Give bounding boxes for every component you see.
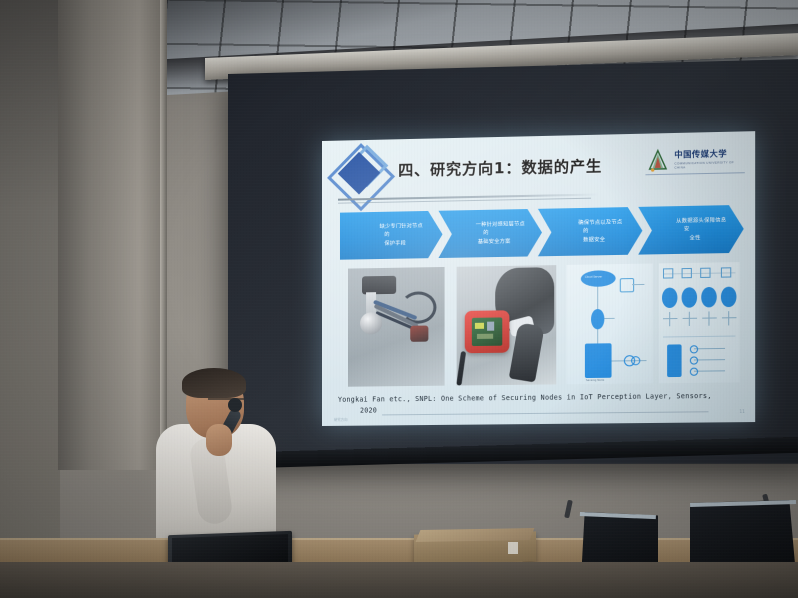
photo-red-case-board	[457, 265, 557, 385]
presentation-slide: 四、研究方向1：数据的产生 中国传媒大学 COMMUNICATION UNIVE…	[322, 131, 755, 426]
university-name: 中国传媒大学	[674, 150, 744, 160]
slide-media-strip: Cloud Server Sensing Node	[340, 262, 740, 387]
photo-wired-device	[348, 267, 445, 387]
university-mark-icon	[645, 148, 670, 173]
slide-footer-note: 研究方向	[334, 417, 348, 422]
slide-title: 四、研究方向1：数据的产生	[398, 155, 602, 181]
diagram-node-array	[659, 262, 740, 383]
box-label	[508, 542, 518, 554]
photo-scene: 四、研究方向1：数据的产生 中国传媒大学 COMMUNICATION UNIVE…	[0, 0, 798, 598]
chevron-step-3: 确保节点以及节点的数据安全	[538, 207, 642, 256]
presenter-hand	[206, 424, 232, 456]
cardboard-box-lid	[416, 528, 535, 542]
chevron-step-4: 从数据源头保障信息安全性	[638, 205, 743, 255]
chevron-process-row: 缺少专门针对节点的保护手段 一种针对感知层节点的基础安全方案 确保节点以及节点的…	[340, 205, 740, 260]
diamond-emblem-icon	[334, 149, 390, 202]
presenter-hair	[182, 368, 246, 398]
university-subtitle: COMMUNICATION UNIVERSITY OF CHINA	[674, 160, 744, 170]
desk-front-panel	[0, 562, 798, 598]
university-logo: 中国传媒大学 COMMUNICATION UNIVERSITY OF CHINA	[645, 144, 744, 177]
microphone-head-icon	[228, 398, 242, 412]
diagram-node-flow: Cloud Server Sensing Node	[566, 264, 652, 385]
left-wall	[0, 0, 60, 598]
chevron-step-2: 一种针对感知层节点的基础安全方案	[438, 209, 541, 258]
chevron-step-1: 缺少专门针对节点的保护手段	[340, 211, 443, 260]
slide-page-number: 11	[739, 409, 744, 414]
